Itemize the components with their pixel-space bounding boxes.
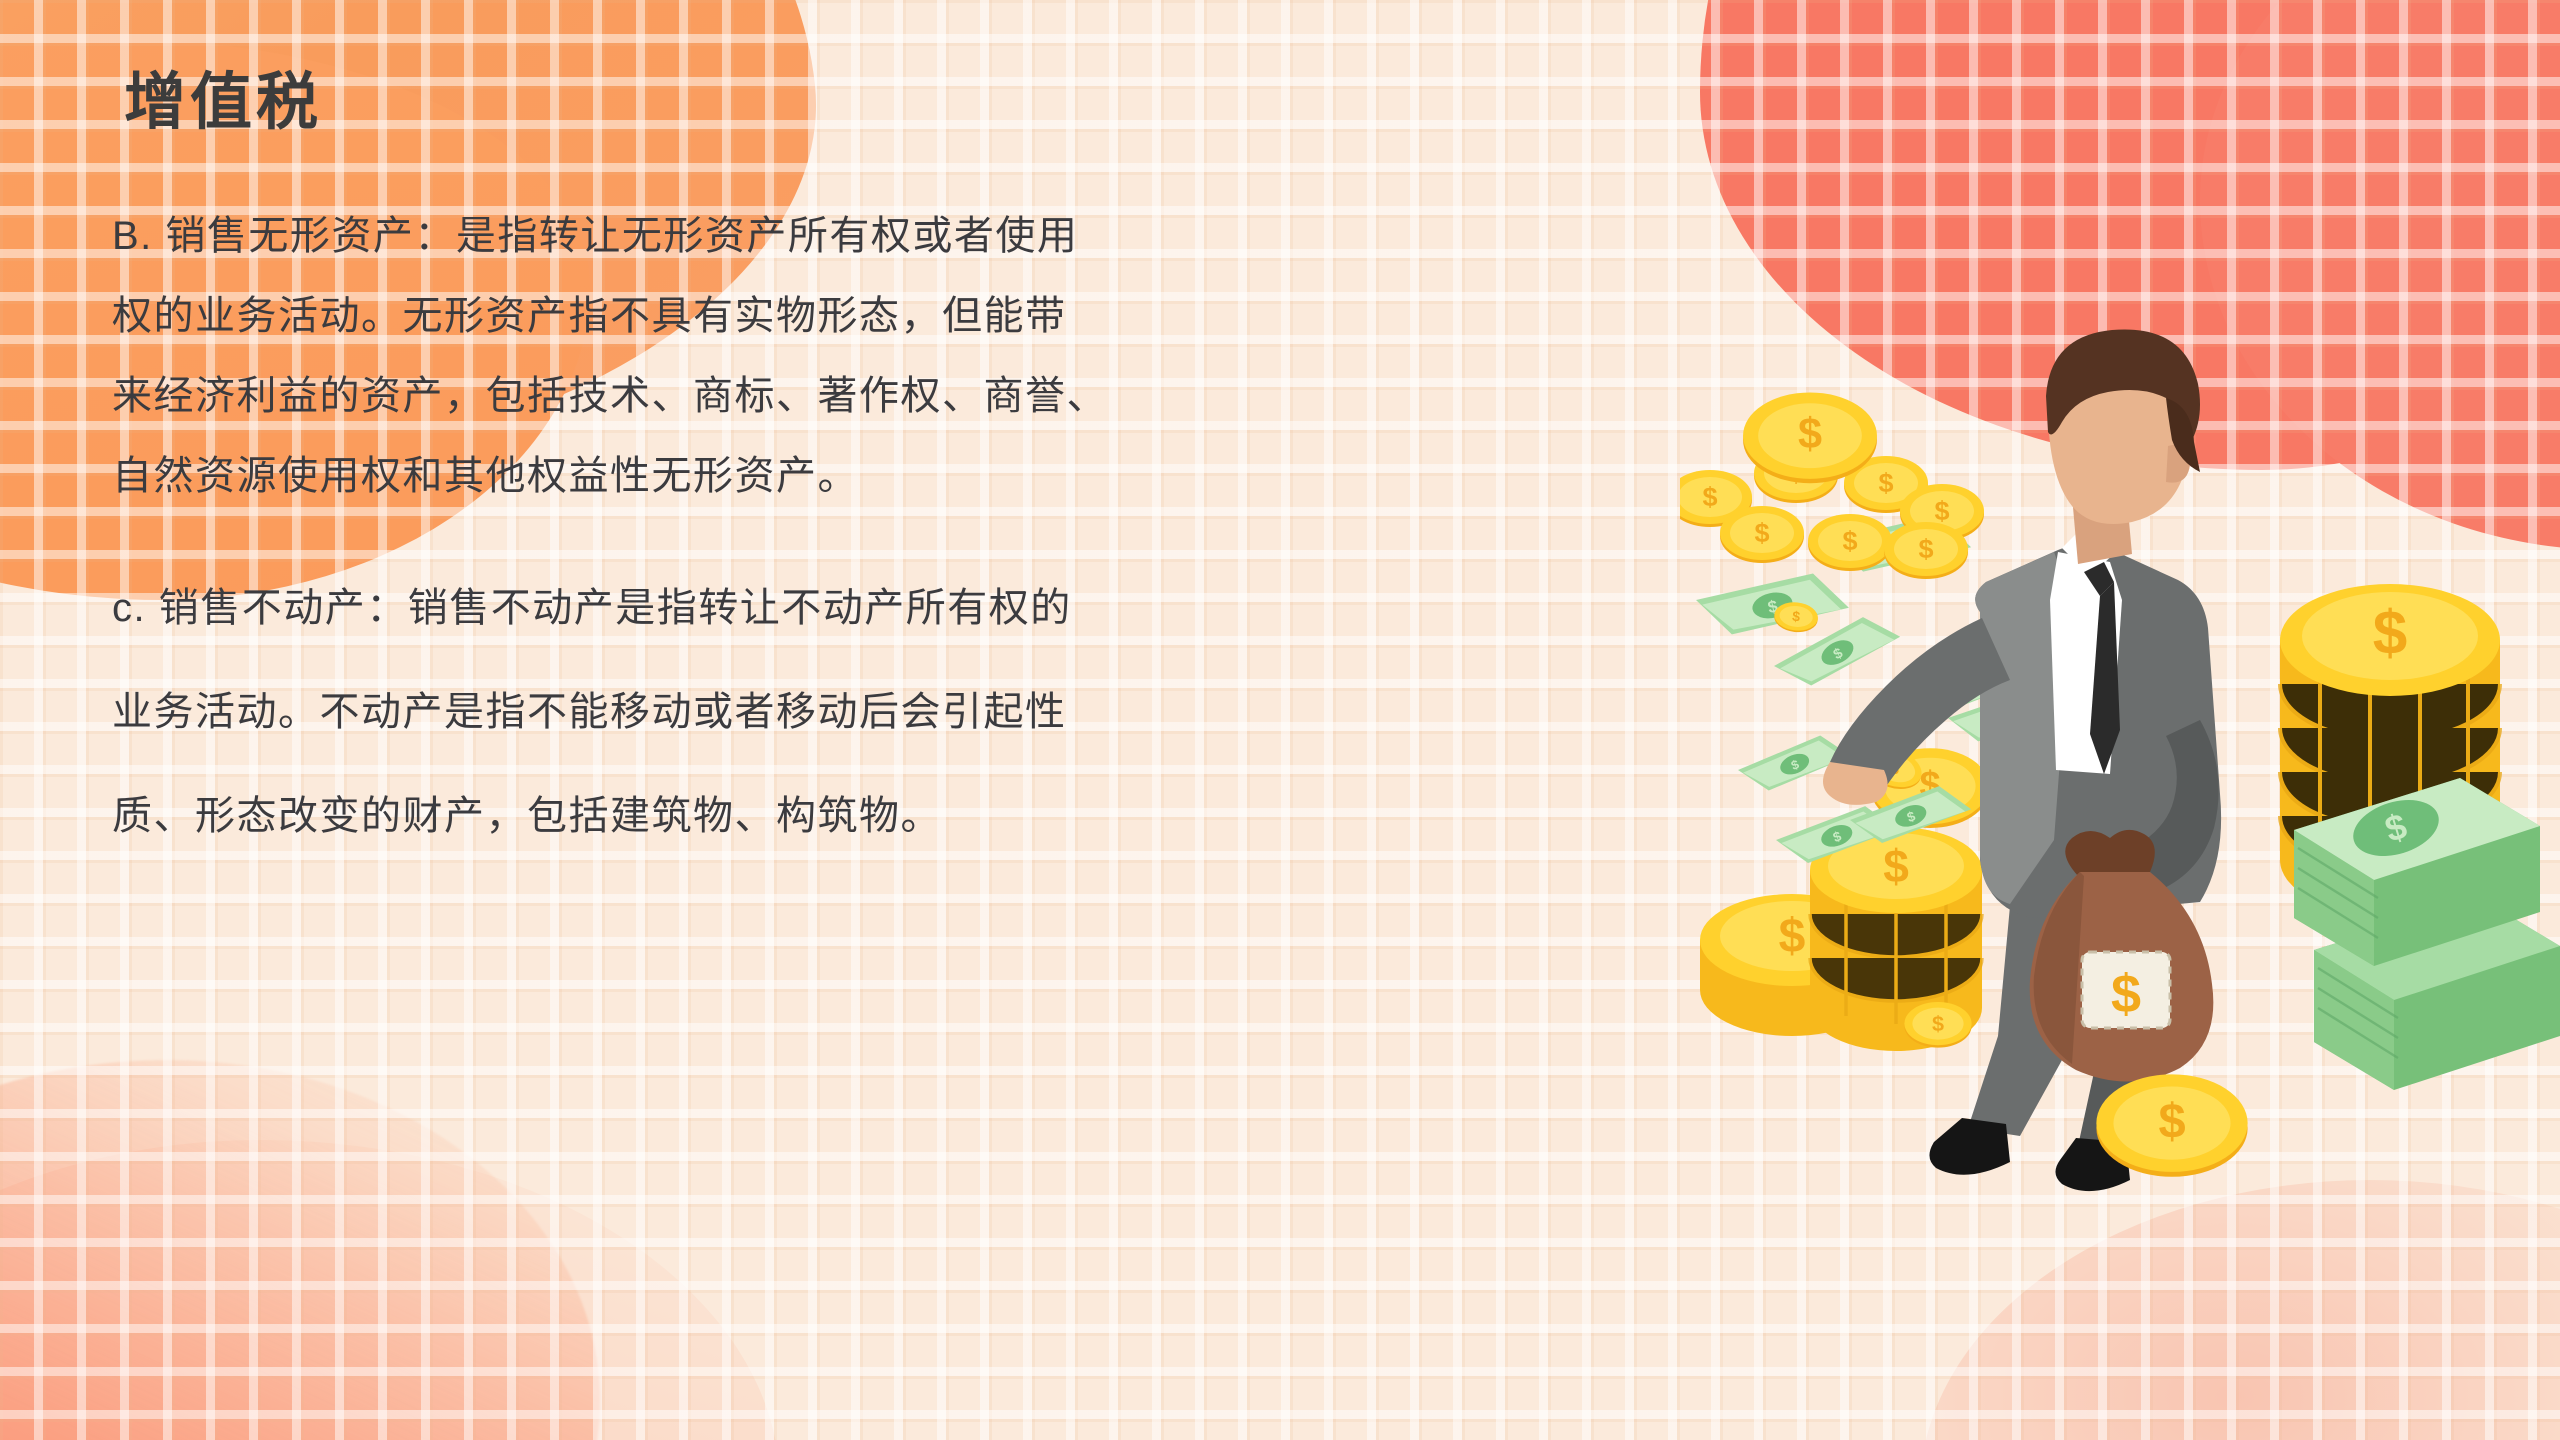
paragraph-c-line-2: 业务活动。不动产是指不能移动或者移动后会引起性 — [112, 660, 1052, 764]
paragraph-c-line-3: 质、形态改变的财产，包括建筑物、构筑物。 — [112, 764, 1052, 868]
banknote-bundle-stack: $ — [2294, 778, 2560, 1090]
decorative-blob-bottom-left — [0, 1060, 600, 1440]
page-title: 增值税 — [124, 64, 322, 142]
paragraph-c: c. 销售不动产：销售不动产是指转让不动产所有权的 业务活动。不动产是指不能移动… — [112, 556, 1052, 868]
shoe-front — [1929, 1118, 2010, 1175]
slide-canvas: 增值税 B. 销售无形资产：是指转让无形资产所有权或者使用 权的业务活动。无形资… — [0, 0, 2560, 1440]
svg-text:$: $ — [1883, 840, 1909, 892]
paragraph-b-line-1: B. 销售无形资产：是指转让无形资产所有权或者使用 — [112, 196, 1052, 276]
svg-text:$: $ — [2111, 964, 2141, 1024]
paragraph-b: B. 销售无形资产：是指转让无形资产所有权或者使用 权的业务活动。无形资产指不具… — [112, 196, 1052, 516]
businessman-with-money-illustration: $ $ $ — [1680, 300, 2560, 1240]
svg-text:$: $ — [1779, 910, 1806, 963]
paragraph-b-line-3: 来经济利益的资产，包括技术、商标、著作权、商誉、 — [112, 356, 1052, 436]
paragraph-b-line-4: 自然资源使用权和其他权益性无形资产。 — [112, 436, 1052, 516]
decorative-blob-bottom-left-outer — [0, 1140, 780, 1440]
body-text-block: B. 销售无形资产：是指转让无形资产所有权或者使用 权的业务活动。无形资产指不具… — [112, 196, 1052, 868]
coin-cluster-in-hand — [1680, 392, 1984, 634]
illustration-svg: $ $ $ — [1680, 300, 2560, 1240]
svg-text:$: $ — [2373, 599, 2407, 668]
paragraph-c-line-1: c. 销售不动产：销售不动产是指转让不动产所有权的 — [112, 556, 1052, 660]
paragraph-b-line-2: 权的业务活动。无形资产指不具有实物形态，但能带 — [112, 276, 1052, 356]
